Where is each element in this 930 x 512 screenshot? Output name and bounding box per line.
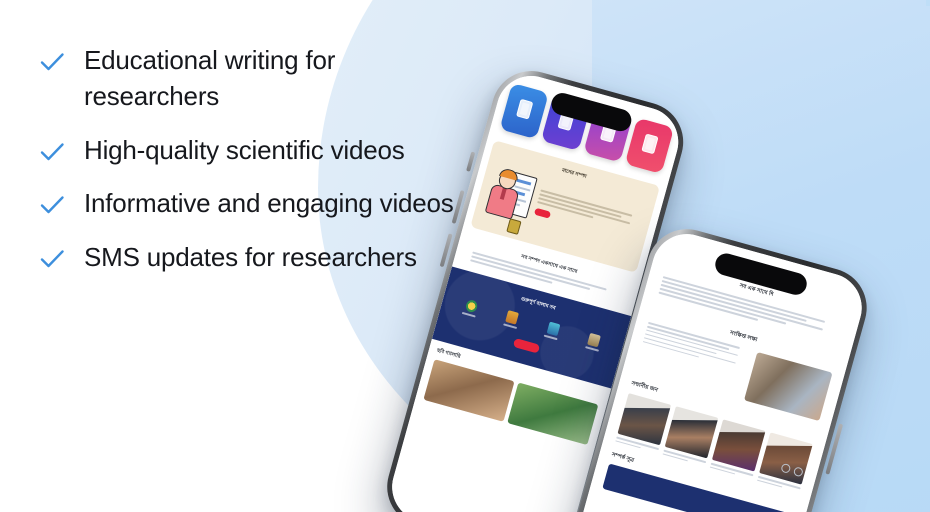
building-icon[interactable] xyxy=(585,332,603,351)
list-item: High-quality scientific videos xyxy=(38,132,468,168)
prev-arrow-icon[interactable] xyxy=(780,463,791,474)
book-icon[interactable] xyxy=(503,310,521,329)
check-icon xyxy=(38,191,66,219)
device-icon xyxy=(516,99,533,120)
monument-icon[interactable] xyxy=(544,321,562,340)
list-item: SMS updates for researchers xyxy=(38,239,468,275)
corner-notch xyxy=(926,0,930,6)
check-icon xyxy=(38,48,66,76)
hero-banner: Educational writing for researchers High… xyxy=(0,0,930,512)
emblem-icon[interactable] xyxy=(462,298,480,317)
app-tile-red[interactable] xyxy=(624,118,674,174)
check-icon xyxy=(38,138,66,166)
highlight-cta-button[interactable] xyxy=(513,338,540,354)
person-with-document-illustration xyxy=(482,163,538,225)
feature-label: Informative and engaging videos xyxy=(84,185,454,221)
check-icon xyxy=(38,245,66,273)
feature-label: High-quality scientific videos xyxy=(84,132,405,168)
badge-icon xyxy=(506,218,521,235)
section-paragraph xyxy=(642,322,751,373)
card-cta-button[interactable] xyxy=(534,207,551,218)
feature-label: Educational writing for researchers xyxy=(84,42,468,115)
feature-list: Educational writing for researchers High… xyxy=(38,42,468,275)
list-item: Educational writing for researchers xyxy=(38,42,468,115)
feature-label: SMS updates for researchers xyxy=(84,239,417,275)
app-tile-blue[interactable] xyxy=(499,83,549,139)
list-item: Informative and engaging videos xyxy=(38,185,468,221)
device-icon xyxy=(641,134,658,155)
